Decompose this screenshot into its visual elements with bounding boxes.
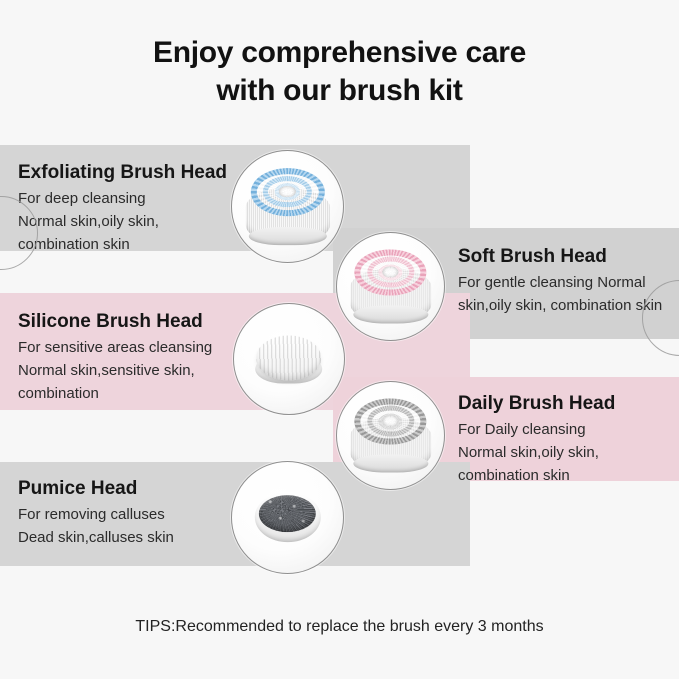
- item-line-2: Dead skin,calluses skin: [18, 527, 174, 550]
- brush-base: [353, 455, 428, 473]
- soft-brush-head-image: [336, 232, 445, 341]
- daily-brush-head-image: [336, 381, 445, 490]
- exfoliating-brush-head-image: [231, 150, 344, 263]
- item-line-1: For gentle cleansing Normal: [458, 272, 662, 295]
- item-text-silicone: Silicone Brush Head For sensitive areas …: [18, 310, 212, 406]
- page-title-line-2: with our brush kit: [0, 72, 679, 110]
- bristle-tufts: [250, 168, 324, 216]
- item-text-daily: Daily Brush Head For Daily cleansing Nor…: [458, 392, 615, 488]
- silicone-bristle-dome: [256, 336, 321, 381]
- item-text-pumice: Pumice Head For removing calluses Dead s…: [18, 477, 174, 550]
- item-title-soft: Soft Brush Head: [458, 245, 662, 269]
- item-line-2: Normal skin,sensitive skin,: [18, 360, 212, 383]
- item-title-pumice: Pumice Head: [18, 477, 174, 501]
- item-line-3: combination skin: [18, 234, 227, 257]
- silicone-puck: [247, 321, 331, 398]
- silicone-brush-head-image: [233, 303, 345, 415]
- brush-base: [353, 306, 428, 324]
- item-line-3: combination skin: [458, 465, 615, 488]
- item-line-1: For deep cleansing: [18, 188, 227, 211]
- item-text-exfoliating: Exfoliating Brush Head For deep cleansin…: [18, 161, 227, 257]
- pumice-stone: [259, 495, 316, 532]
- item-line-2: Normal skin,oily skin,: [458, 442, 615, 465]
- item-line-2: Normal skin,oily skin,: [18, 211, 227, 234]
- item-line-1: For removing calluses: [18, 504, 174, 527]
- brush-face: [250, 168, 324, 216]
- page-title: Enjoy comprehensive care with our brush …: [0, 34, 679, 109]
- infographic-canvas: Enjoy comprehensive care with our brush …: [0, 0, 679, 679]
- brush-puck: [350, 398, 431, 473]
- brush-puck: [350, 249, 431, 324]
- item-line-3: combination: [18, 383, 212, 406]
- pumice-head-image: [231, 461, 344, 574]
- item-title-exfoliating: Exfoliating Brush Head: [18, 161, 227, 185]
- pumice-puck: [245, 479, 329, 557]
- item-text-soft: Soft Brush Head For gentle cleansing Nor…: [458, 245, 662, 318]
- item-line-1: For Daily cleansing: [458, 419, 615, 442]
- tips-text: TIPS:Recommended to replace the brush ev…: [0, 618, 679, 636]
- item-line-2: skin,oily skin, combination skin: [458, 295, 662, 318]
- item-line-1: For sensitive areas cleansing: [18, 337, 212, 360]
- item-title-silicone: Silicone Brush Head: [18, 310, 212, 334]
- brush-base: [249, 227, 327, 246]
- page-title-line-1: Enjoy comprehensive care: [153, 36, 526, 69]
- item-title-daily: Daily Brush Head: [458, 392, 615, 416]
- brush-puck: [245, 168, 329, 246]
